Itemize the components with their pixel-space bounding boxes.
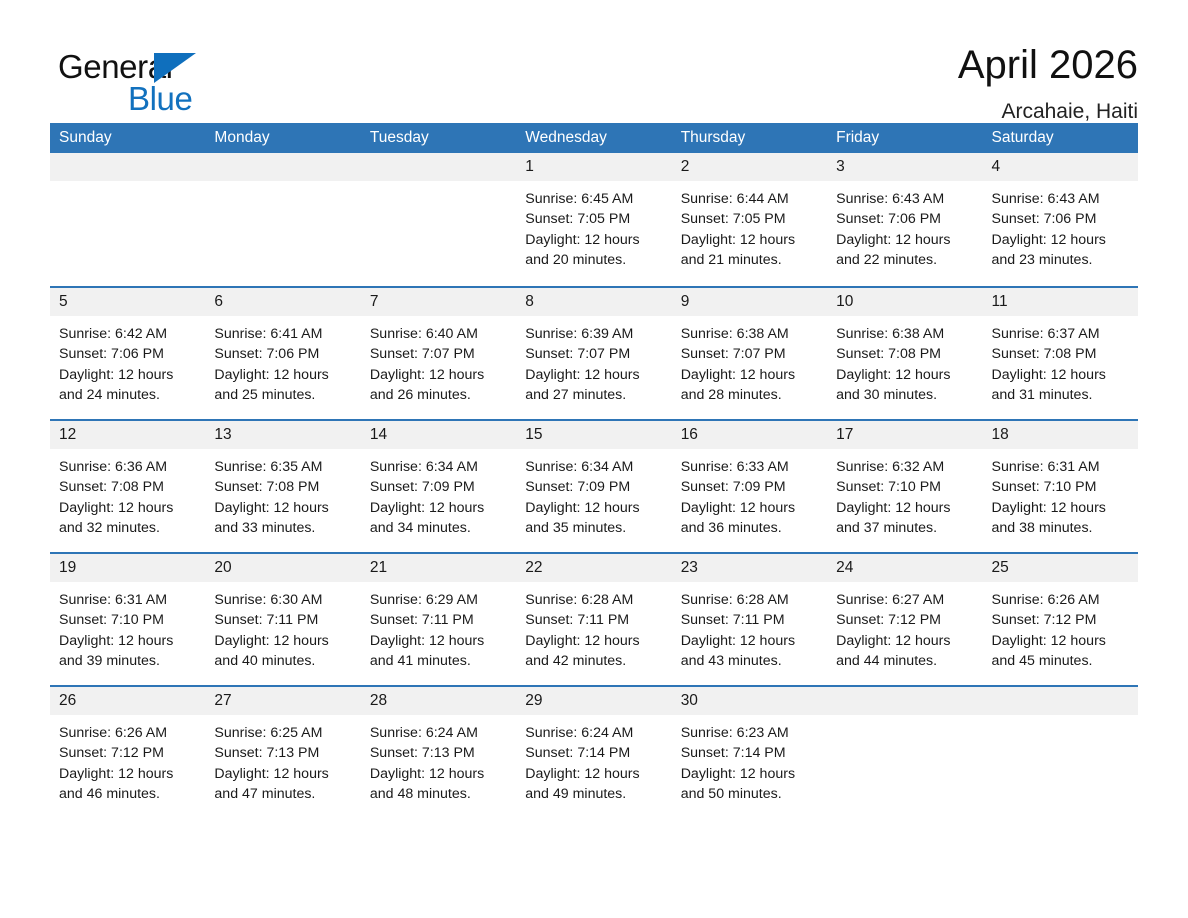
day-cell[interactable]: 17Sunrise: 6:32 AMSunset: 7:10 PMDayligh… [827, 421, 982, 552]
sunset-time: Sunset: 7:09 PM [370, 477, 507, 497]
weekday-header-thursday: Thursday [672, 123, 827, 153]
day-details: Sunrise: 6:40 AMSunset: 7:07 PMDaylight:… [361, 316, 516, 405]
day-number: 5 [50, 288, 205, 316]
day-details: Sunrise: 6:31 AMSunset: 7:10 PMDaylight:… [983, 449, 1138, 538]
day-details [361, 181, 516, 189]
sunset-time: Sunset: 7:14 PM [525, 743, 662, 763]
daylight-line-2: and 45 minutes. [992, 651, 1129, 671]
week-row: 26Sunrise: 6:26 AMSunset: 7:12 PMDayligh… [50, 685, 1138, 818]
day-details: Sunrise: 6:26 AMSunset: 7:12 PMDaylight:… [983, 582, 1138, 671]
daylight-line-1: Daylight: 12 hours [525, 631, 662, 651]
day-number: 2 [672, 153, 827, 181]
logo-text-blue: Blue [128, 80, 192, 118]
daylight-line-1: Daylight: 12 hours [59, 631, 196, 651]
day-cell[interactable]: 26Sunrise: 6:26 AMSunset: 7:12 PMDayligh… [50, 687, 205, 818]
daylight-line-2: and 36 minutes. [681, 518, 818, 538]
sunset-time: Sunset: 7:10 PM [59, 610, 196, 630]
day-cell[interactable]: 21Sunrise: 6:29 AMSunset: 7:11 PMDayligh… [361, 554, 516, 685]
day-number: 3 [827, 153, 982, 181]
daylight-line-2: and 41 minutes. [370, 651, 507, 671]
day-cell[interactable]: 19Sunrise: 6:31 AMSunset: 7:10 PMDayligh… [50, 554, 205, 685]
week-row: 19Sunrise: 6:31 AMSunset: 7:10 PMDayligh… [50, 552, 1138, 685]
calendar-table: SundayMondayTuesdayWednesdayThursdayFrid… [50, 123, 1138, 818]
daylight-line-2: and 40 minutes. [214, 651, 351, 671]
daylight-line-1: Daylight: 12 hours [370, 498, 507, 518]
daylight-line-1: Daylight: 12 hours [681, 764, 818, 784]
sunset-time: Sunset: 7:09 PM [681, 477, 818, 497]
day-cell[interactable]: 13Sunrise: 6:35 AMSunset: 7:08 PMDayligh… [205, 421, 360, 552]
day-details: Sunrise: 6:24 AMSunset: 7:13 PMDaylight:… [361, 715, 516, 804]
sunset-time: Sunset: 7:07 PM [681, 344, 818, 364]
day-cell[interactable]: 1Sunrise: 6:45 AMSunset: 7:05 PMDaylight… [516, 153, 671, 286]
sunset-time: Sunset: 7:10 PM [836, 477, 973, 497]
sunrise-time: Sunrise: 6:39 AM [525, 324, 662, 344]
day-details [50, 181, 205, 189]
week-row: 1Sunrise: 6:45 AMSunset: 7:05 PMDaylight… [50, 153, 1138, 286]
day-cell[interactable]: 24Sunrise: 6:27 AMSunset: 7:12 PMDayligh… [827, 554, 982, 685]
daylight-line-1: Daylight: 12 hours [836, 230, 973, 250]
day-cell-empty [983, 687, 1138, 818]
day-cell[interactable]: 2Sunrise: 6:44 AMSunset: 7:05 PMDaylight… [672, 153, 827, 286]
daylight-line-1: Daylight: 12 hours [59, 764, 196, 784]
daylight-line-2: and 35 minutes. [525, 518, 662, 538]
sunrise-time: Sunrise: 6:36 AM [59, 457, 196, 477]
day-number [361, 153, 516, 181]
day-cell[interactable]: 15Sunrise: 6:34 AMSunset: 7:09 PMDayligh… [516, 421, 671, 552]
day-cell[interactable]: 6Sunrise: 6:41 AMSunset: 7:06 PMDaylight… [205, 288, 360, 419]
day-number [50, 153, 205, 181]
daylight-line-1: Daylight: 12 hours [681, 631, 818, 651]
day-details: Sunrise: 6:24 AMSunset: 7:14 PMDaylight:… [516, 715, 671, 804]
day-details: Sunrise: 6:28 AMSunset: 7:11 PMDaylight:… [672, 582, 827, 671]
sunrise-time: Sunrise: 6:41 AM [214, 324, 351, 344]
weekday-header-wednesday: Wednesday [516, 123, 671, 153]
day-cell[interactable]: 11Sunrise: 6:37 AMSunset: 7:08 PMDayligh… [983, 288, 1138, 419]
sunrise-time: Sunrise: 6:38 AM [836, 324, 973, 344]
daylight-line-1: Daylight: 12 hours [370, 365, 507, 385]
day-number: 29 [516, 687, 671, 715]
day-details: Sunrise: 6:44 AMSunset: 7:05 PMDaylight:… [672, 181, 827, 270]
day-cell[interactable]: 14Sunrise: 6:34 AMSunset: 7:09 PMDayligh… [361, 421, 516, 552]
day-number: 10 [827, 288, 982, 316]
day-details: Sunrise: 6:30 AMSunset: 7:11 PMDaylight:… [205, 582, 360, 671]
day-number: 14 [361, 421, 516, 449]
day-details: Sunrise: 6:31 AMSunset: 7:10 PMDaylight:… [50, 582, 205, 671]
sunset-time: Sunset: 7:06 PM [836, 209, 973, 229]
sunrise-time: Sunrise: 6:43 AM [836, 189, 973, 209]
sunrise-time: Sunrise: 6:31 AM [992, 457, 1129, 477]
weekday-header-friday: Friday [827, 123, 982, 153]
day-details: Sunrise: 6:43 AMSunset: 7:06 PMDaylight:… [827, 181, 982, 270]
sunrise-time: Sunrise: 6:35 AM [214, 457, 351, 477]
sunset-time: Sunset: 7:11 PM [214, 610, 351, 630]
day-number: 18 [983, 421, 1138, 449]
day-cell[interactable]: 3Sunrise: 6:43 AMSunset: 7:06 PMDaylight… [827, 153, 982, 286]
day-details [205, 181, 360, 189]
calendar-page: General Blue April 2026 Arcahaie, Haiti … [0, 0, 1188, 918]
day-number: 1 [516, 153, 671, 181]
sunset-time: Sunset: 7:10 PM [992, 477, 1129, 497]
daylight-line-1: Daylight: 12 hours [836, 498, 973, 518]
sunrise-time: Sunrise: 6:32 AM [836, 457, 973, 477]
sunset-time: Sunset: 7:12 PM [59, 743, 196, 763]
day-details: Sunrise: 6:36 AMSunset: 7:08 PMDaylight:… [50, 449, 205, 538]
day-cell[interactable]: 12Sunrise: 6:36 AMSunset: 7:08 PMDayligh… [50, 421, 205, 552]
daylight-line-2: and 24 minutes. [59, 385, 196, 405]
page-title: April 2026 [958, 44, 1138, 86]
sunrise-time: Sunrise: 6:42 AM [59, 324, 196, 344]
day-number [827, 687, 982, 715]
daylight-line-2: and 49 minutes. [525, 784, 662, 804]
day-details: Sunrise: 6:27 AMSunset: 7:12 PMDaylight:… [827, 582, 982, 671]
sunset-time: Sunset: 7:05 PM [681, 209, 818, 229]
sunset-time: Sunset: 7:06 PM [992, 209, 1129, 229]
day-details: Sunrise: 6:32 AMSunset: 7:10 PMDaylight:… [827, 449, 982, 538]
sunset-time: Sunset: 7:11 PM [525, 610, 662, 630]
daylight-line-2: and 23 minutes. [992, 250, 1129, 270]
day-cell-empty [205, 153, 360, 286]
sunset-time: Sunset: 7:13 PM [214, 743, 351, 763]
day-cell[interactable]: 8Sunrise: 6:39 AMSunset: 7:07 PMDaylight… [516, 288, 671, 419]
sunset-time: Sunset: 7:06 PM [59, 344, 196, 364]
daylight-line-1: Daylight: 12 hours [59, 498, 196, 518]
sunrise-time: Sunrise: 6:26 AM [992, 590, 1129, 610]
day-details: Sunrise: 6:29 AMSunset: 7:11 PMDaylight:… [361, 582, 516, 671]
sunset-time: Sunset: 7:06 PM [214, 344, 351, 364]
daylight-line-1: Daylight: 12 hours [836, 631, 973, 651]
sunset-time: Sunset: 7:11 PM [681, 610, 818, 630]
day-cell[interactable]: 25Sunrise: 6:26 AMSunset: 7:12 PMDayligh… [983, 554, 1138, 685]
daylight-line-2: and 25 minutes. [214, 385, 351, 405]
sunset-time: Sunset: 7:08 PM [836, 344, 973, 364]
daylight-line-1: Daylight: 12 hours [836, 365, 973, 385]
daylight-line-1: Daylight: 12 hours [681, 498, 818, 518]
day-cell-empty [361, 153, 516, 286]
daylight-line-2: and 27 minutes. [525, 385, 662, 405]
day-cell[interactable]: 4Sunrise: 6:43 AMSunset: 7:06 PMDaylight… [983, 153, 1138, 286]
day-number: 6 [205, 288, 360, 316]
day-number: 22 [516, 554, 671, 582]
sunrise-time: Sunrise: 6:29 AM [370, 590, 507, 610]
sunrise-time: Sunrise: 6:28 AM [525, 590, 662, 610]
sunrise-time: Sunrise: 6:28 AM [681, 590, 818, 610]
weekday-header-tuesday: Tuesday [361, 123, 516, 153]
daylight-line-2: and 34 minutes. [370, 518, 507, 538]
page-header: General Blue April 2026 Arcahaie, Haiti [50, 0, 1138, 110]
day-cell[interactable]: 30Sunrise: 6:23 AMSunset: 7:14 PMDayligh… [672, 687, 827, 818]
day-cell-empty [827, 687, 982, 818]
daylight-line-2: and 32 minutes. [59, 518, 196, 538]
daylight-line-2: and 33 minutes. [214, 518, 351, 538]
day-details: Sunrise: 6:26 AMSunset: 7:12 PMDaylight:… [50, 715, 205, 804]
day-number: 25 [983, 554, 1138, 582]
day-cell[interactable]: 28Sunrise: 6:24 AMSunset: 7:13 PMDayligh… [361, 687, 516, 818]
daylight-line-1: Daylight: 12 hours [992, 230, 1129, 250]
sunrise-time: Sunrise: 6:34 AM [525, 457, 662, 477]
day-number: 23 [672, 554, 827, 582]
day-details: Sunrise: 6:45 AMSunset: 7:05 PMDaylight:… [516, 181, 671, 270]
sunrise-time: Sunrise: 6:38 AM [681, 324, 818, 344]
sunset-time: Sunset: 7:07 PM [525, 344, 662, 364]
sunset-time: Sunset: 7:05 PM [525, 209, 662, 229]
daylight-line-2: and 39 minutes. [59, 651, 196, 671]
daylight-line-1: Daylight: 12 hours [214, 498, 351, 518]
sunrise-time: Sunrise: 6:44 AM [681, 189, 818, 209]
daylight-line-1: Daylight: 12 hours [681, 230, 818, 250]
day-number: 9 [672, 288, 827, 316]
calendar-body: 1Sunrise: 6:45 AMSunset: 7:05 PMDaylight… [50, 153, 1138, 818]
sunrise-time: Sunrise: 6:40 AM [370, 324, 507, 344]
daylight-line-2: and 31 minutes. [992, 385, 1129, 405]
weekday-header-row: SundayMondayTuesdayWednesdayThursdayFrid… [50, 123, 1138, 153]
day-cell[interactable]: 16Sunrise: 6:33 AMSunset: 7:09 PMDayligh… [672, 421, 827, 552]
daylight-line-1: Daylight: 12 hours [214, 365, 351, 385]
triangle-flag-icon [154, 53, 196, 83]
daylight-line-1: Daylight: 12 hours [525, 498, 662, 518]
sunrise-time: Sunrise: 6:31 AM [59, 590, 196, 610]
sunrise-time: Sunrise: 6:43 AM [992, 189, 1129, 209]
daylight-line-1: Daylight: 12 hours [214, 631, 351, 651]
sunrise-time: Sunrise: 6:37 AM [992, 324, 1129, 344]
sunset-time: Sunset: 7:07 PM [370, 344, 507, 364]
sunset-time: Sunset: 7:11 PM [370, 610, 507, 630]
week-row: 12Sunrise: 6:36 AMSunset: 7:08 PMDayligh… [50, 419, 1138, 552]
day-number: 24 [827, 554, 982, 582]
sunrise-time: Sunrise: 6:26 AM [59, 723, 196, 743]
daylight-line-1: Daylight: 12 hours [681, 365, 818, 385]
day-details: Sunrise: 6:43 AMSunset: 7:06 PMDaylight:… [983, 181, 1138, 270]
day-cell[interactable]: 5Sunrise: 6:42 AMSunset: 7:06 PMDaylight… [50, 288, 205, 419]
day-details: Sunrise: 6:34 AMSunset: 7:09 PMDaylight:… [516, 449, 671, 538]
sunrise-time: Sunrise: 6:24 AM [370, 723, 507, 743]
daylight-line-1: Daylight: 12 hours [992, 498, 1129, 518]
daylight-line-2: and 21 minutes. [681, 250, 818, 270]
day-number: 21 [361, 554, 516, 582]
day-cell[interactable]: 18Sunrise: 6:31 AMSunset: 7:10 PMDayligh… [983, 421, 1138, 552]
day-number: 30 [672, 687, 827, 715]
sunrise-time: Sunrise: 6:27 AM [836, 590, 973, 610]
daylight-line-1: Daylight: 12 hours [59, 365, 196, 385]
day-number: 26 [50, 687, 205, 715]
daylight-line-1: Daylight: 12 hours [992, 365, 1129, 385]
daylight-line-2: and 50 minutes. [681, 784, 818, 804]
day-details: Sunrise: 6:34 AMSunset: 7:09 PMDaylight:… [361, 449, 516, 538]
day-cell[interactable]: 9Sunrise: 6:38 AMSunset: 7:07 PMDaylight… [672, 288, 827, 419]
day-number: 4 [983, 153, 1138, 181]
sunset-time: Sunset: 7:08 PM [992, 344, 1129, 364]
day-details: Sunrise: 6:41 AMSunset: 7:06 PMDaylight:… [205, 316, 360, 405]
sunrise-time: Sunrise: 6:25 AM [214, 723, 351, 743]
generalblue-logo[interactable]: General Blue [50, 42, 210, 120]
sunset-time: Sunset: 7:14 PM [681, 743, 818, 763]
day-cell[interactable]: 10Sunrise: 6:38 AMSunset: 7:08 PMDayligh… [827, 288, 982, 419]
day-number: 17 [827, 421, 982, 449]
week-row: 5Sunrise: 6:42 AMSunset: 7:06 PMDaylight… [50, 286, 1138, 419]
sunset-time: Sunset: 7:08 PM [59, 477, 196, 497]
day-number: 27 [205, 687, 360, 715]
sunrise-time: Sunrise: 6:34 AM [370, 457, 507, 477]
day-details: Sunrise: 6:39 AMSunset: 7:07 PMDaylight:… [516, 316, 671, 405]
daylight-line-2: and 47 minutes. [214, 784, 351, 804]
day-number [205, 153, 360, 181]
day-details: Sunrise: 6:35 AMSunset: 7:08 PMDaylight:… [205, 449, 360, 538]
day-cell[interactable]: 29Sunrise: 6:24 AMSunset: 7:14 PMDayligh… [516, 687, 671, 818]
day-number: 16 [672, 421, 827, 449]
day-details: Sunrise: 6:25 AMSunset: 7:13 PMDaylight:… [205, 715, 360, 804]
day-cell[interactable]: 22Sunrise: 6:28 AMSunset: 7:11 PMDayligh… [516, 554, 671, 685]
daylight-line-2: and 26 minutes. [370, 385, 507, 405]
weekday-header-saturday: Saturday [983, 123, 1138, 153]
day-details: Sunrise: 6:33 AMSunset: 7:09 PMDaylight:… [672, 449, 827, 538]
sunset-time: Sunset: 7:08 PM [214, 477, 351, 497]
location-label: Arcahaie, Haiti [958, 100, 1138, 124]
daylight-line-1: Daylight: 12 hours [992, 631, 1129, 651]
daylight-line-1: Daylight: 12 hours [370, 764, 507, 784]
sunset-time: Sunset: 7:13 PM [370, 743, 507, 763]
day-cell[interactable]: 23Sunrise: 6:28 AMSunset: 7:11 PMDayligh… [672, 554, 827, 685]
daylight-line-2: and 22 minutes. [836, 250, 973, 270]
daylight-line-2: and 44 minutes. [836, 651, 973, 671]
title-block: April 2026 Arcahaie, Haiti [958, 42, 1138, 124]
day-cell[interactable]: 7Sunrise: 6:40 AMSunset: 7:07 PMDaylight… [361, 288, 516, 419]
day-cell[interactable]: 27Sunrise: 6:25 AMSunset: 7:13 PMDayligh… [205, 687, 360, 818]
day-number: 7 [361, 288, 516, 316]
daylight-line-1: Daylight: 12 hours [525, 764, 662, 784]
day-details: Sunrise: 6:37 AMSunset: 7:08 PMDaylight:… [983, 316, 1138, 405]
day-details [983, 715, 1138, 723]
day-number: 28 [361, 687, 516, 715]
day-number: 8 [516, 288, 671, 316]
day-number: 13 [205, 421, 360, 449]
weekday-header-sunday: Sunday [50, 123, 205, 153]
day-details: Sunrise: 6:28 AMSunset: 7:11 PMDaylight:… [516, 582, 671, 671]
day-number [983, 687, 1138, 715]
daylight-line-2: and 43 minutes. [681, 651, 818, 671]
day-details: Sunrise: 6:38 AMSunset: 7:08 PMDaylight:… [827, 316, 982, 405]
day-number: 15 [516, 421, 671, 449]
day-details [827, 715, 982, 723]
daylight-line-1: Daylight: 12 hours [370, 631, 507, 651]
daylight-line-1: Daylight: 12 hours [525, 365, 662, 385]
day-cell-empty [50, 153, 205, 286]
daylight-line-2: and 30 minutes. [836, 385, 973, 405]
daylight-line-2: and 20 minutes. [525, 250, 662, 270]
sunset-time: Sunset: 7:12 PM [992, 610, 1129, 630]
sunrise-time: Sunrise: 6:23 AM [681, 723, 818, 743]
daylight-line-1: Daylight: 12 hours [525, 230, 662, 250]
day-number: 19 [50, 554, 205, 582]
daylight-line-2: and 42 minutes. [525, 651, 662, 671]
weekday-header-monday: Monday [205, 123, 360, 153]
sunrise-time: Sunrise: 6:24 AM [525, 723, 662, 743]
daylight-line-1: Daylight: 12 hours [214, 764, 351, 784]
day-number: 12 [50, 421, 205, 449]
sunrise-time: Sunrise: 6:45 AM [525, 189, 662, 209]
day-details: Sunrise: 6:38 AMSunset: 7:07 PMDaylight:… [672, 316, 827, 405]
sunrise-time: Sunrise: 6:33 AM [681, 457, 818, 477]
daylight-line-2: and 38 minutes. [992, 518, 1129, 538]
day-number: 11 [983, 288, 1138, 316]
daylight-line-2: and 46 minutes. [59, 784, 196, 804]
day-details: Sunrise: 6:23 AMSunset: 7:14 PMDaylight:… [672, 715, 827, 804]
sunset-time: Sunset: 7:12 PM [836, 610, 973, 630]
day-details: Sunrise: 6:42 AMSunset: 7:06 PMDaylight:… [50, 316, 205, 405]
sunrise-time: Sunrise: 6:30 AM [214, 590, 351, 610]
sunset-time: Sunset: 7:09 PM [525, 477, 662, 497]
daylight-line-2: and 48 minutes. [370, 784, 507, 804]
day-cell[interactable]: 20Sunrise: 6:30 AMSunset: 7:11 PMDayligh… [205, 554, 360, 685]
day-number: 20 [205, 554, 360, 582]
daylight-line-2: and 37 minutes. [836, 518, 973, 538]
daylight-line-2: and 28 minutes. [681, 385, 818, 405]
